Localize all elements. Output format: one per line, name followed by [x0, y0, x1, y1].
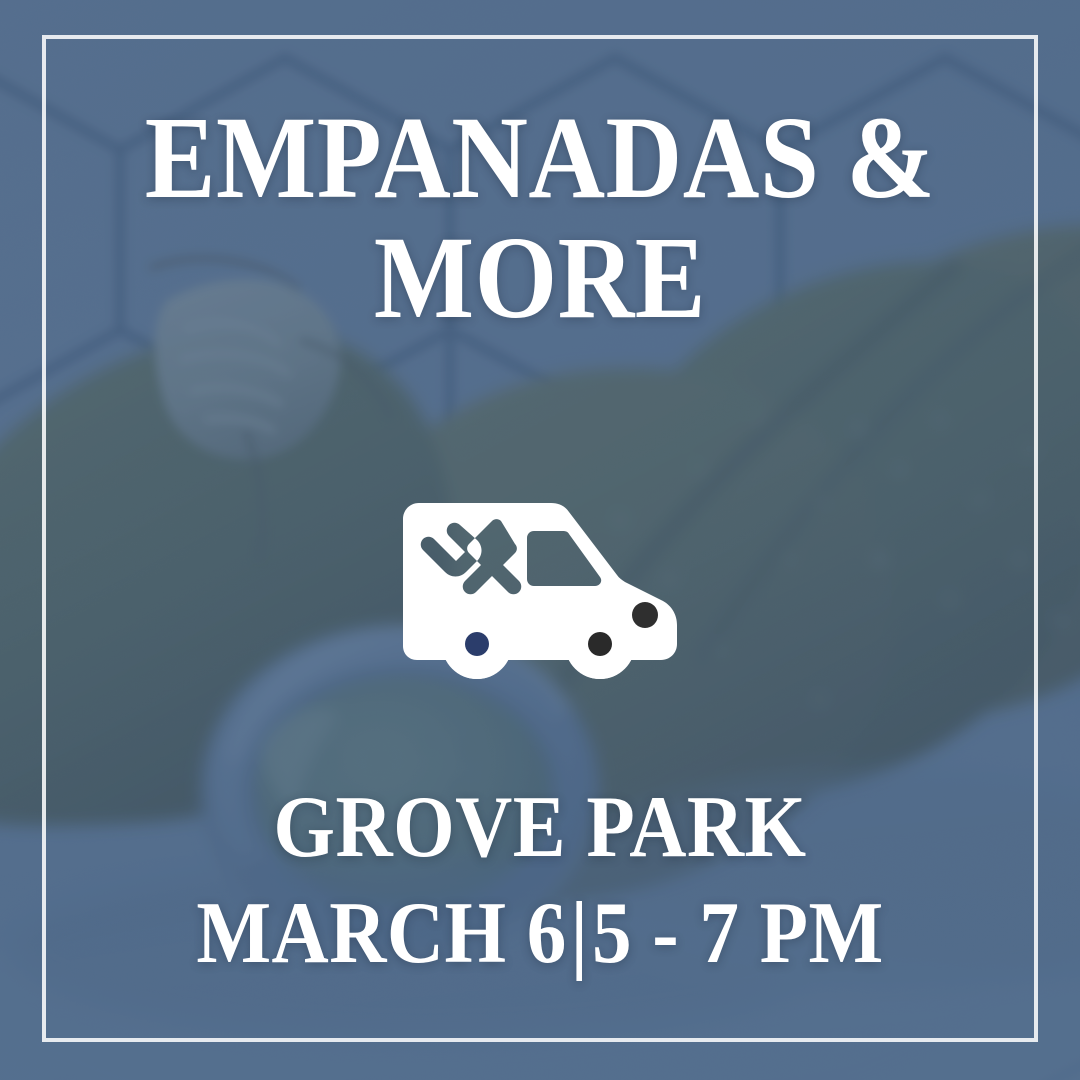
date-time-line: MARCH 6|5 - 7 PM [54, 889, 1026, 979]
title-line-2: MORE [117, 218, 963, 338]
event-date: MARCH 6 [196, 885, 567, 982]
date-time-separator: | [567, 885, 592, 982]
venue-name: GROVE PARK [54, 783, 1026, 873]
page-title: EMPANADAS & MORE [54, 98, 1026, 339]
truck-headlight [632, 602, 658, 628]
event-poster: EMPANADAS & MORE GROVE PARK MARCH 6 [0, 0, 1080, 1080]
event-time: 5 - 7 PM [592, 885, 884, 982]
food-truck-icon [403, 503, 679, 681]
title-line-1: EMPANADAS & [117, 98, 963, 218]
food-truck-icon-svg [403, 503, 679, 681]
